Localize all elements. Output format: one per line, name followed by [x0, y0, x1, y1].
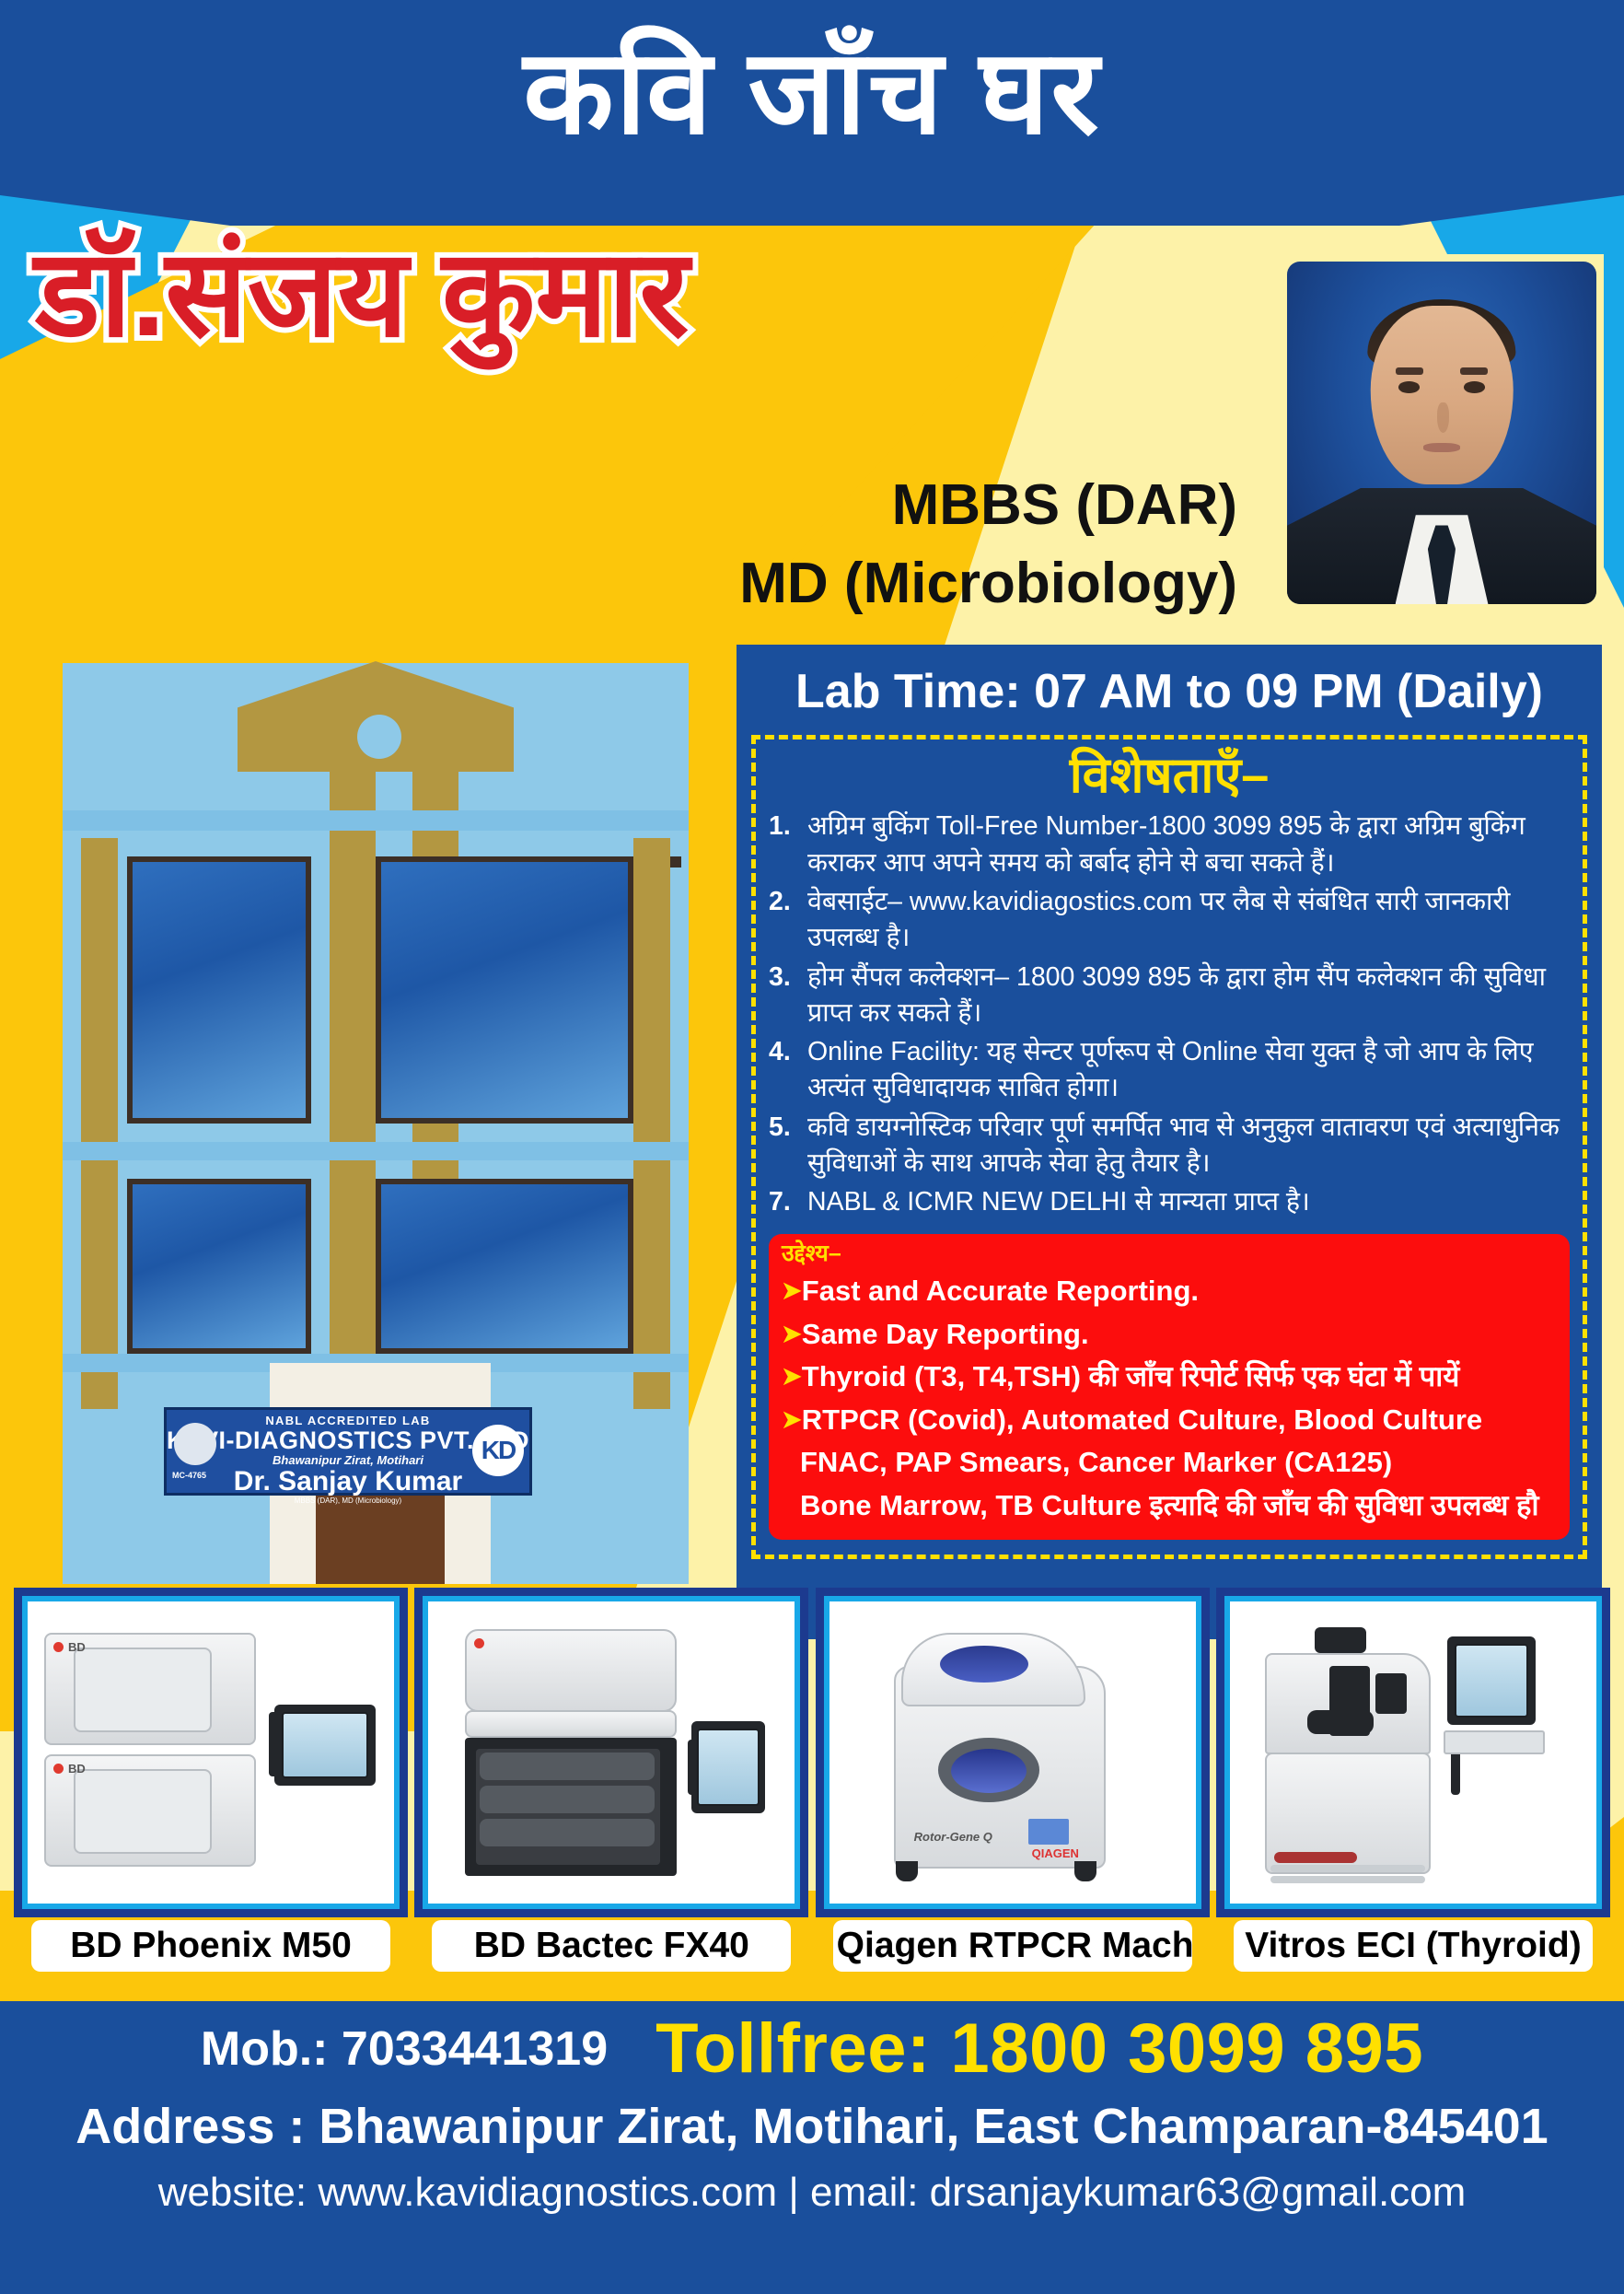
equipment-card: BD BD BD Phoenix M50 [22, 1596, 400, 2001]
feature-text: वेबसाईट– www.kavidiagostics.com पर लैब स… [807, 884, 1570, 957]
equipment-label: BD Bactec FX40 [432, 1920, 791, 1972]
building-window-3 [670, 856, 681, 868]
feature-number: 1. [769, 809, 807, 881]
feature-number: 4. [769, 1034, 807, 1107]
feature-item: 7. NABL & ICMR NEW DELHI से मान्यता प्रा… [769, 1184, 1570, 1220]
feature-item: 1. अग्रिम बुकिंग Toll-Free Number-1800 3… [769, 809, 1570, 881]
building-oculus-window [357, 715, 401, 759]
objective-continuation-line: FNAC, PAP Smears, Cancer Marker (CA125) [782, 1441, 1557, 1485]
objective-text: Same Day Reporting. [802, 1313, 1089, 1357]
qiagen-brand-text: Rotor-Gene Q [914, 1830, 992, 1844]
doctor-qualification-1: MBBS (DAR) [892, 474, 1237, 537]
signboard-accreditation: NABL ACCREDITED LAB [167, 1414, 529, 1427]
building-window-4 [127, 1179, 311, 1354]
lab-building-photo: MC-4765 NABL ACCREDITED LAB KAVI-DIAGNOS… [26, 626, 725, 1639]
equipment-label: Vitros ECI (Thyroid) [1234, 1920, 1593, 1972]
signboard-doctor-qual: MBBS (DAR), MD (Microbiology) [167, 1496, 529, 1505]
lab-signboard: MC-4765 NABL ACCREDITED LAB KAVI-DIAGNOS… [164, 1407, 532, 1496]
feature-item: 4. Online Facility: यह सेन्टर पूर्णरूप स… [769, 1034, 1570, 1107]
objective-text: Fast and Accurate Reporting. [802, 1270, 1199, 1313]
footer: Mob.: 7033441319 Tollfree: 1800 3099 895… [0, 2001, 1624, 2294]
feature-number: 3. [769, 960, 807, 1032]
feature-item: 3. होम सैंपल कलेक्शन– 1800 3099 895 के द… [769, 960, 1570, 1032]
equipment-image: BD BD [22, 1596, 400, 1909]
portrait-brow-right [1460, 367, 1488, 375]
footer-tollfree: Tollfree: 1800 3099 895 [655, 2009, 1423, 2089]
objective-item: ➤ Same Day Reporting. [782, 1313, 1557, 1357]
building-ledge-mid [63, 1142, 689, 1160]
building-pillar-far-right [633, 838, 670, 1409]
building-pillar-left [330, 764, 376, 1409]
feature-item: 5. कवि डायग्नोस्टिक परिवार पूर्ण समर्पित… [769, 1110, 1570, 1182]
equipment-card: Rotor-Gene Q QIAGEN Qiagen RTPCR Machine [824, 1596, 1201, 2001]
page-title: कवि जाँच घर [523, 34, 1100, 161]
nabl-seal-icon [174, 1423, 216, 1465]
feature-text: होम सैंपल कलेक्शन– 1800 3099 895 के द्वा… [807, 960, 1570, 1032]
objective-text: Thyroid (T3, T4,TSH) की जाँच रिपोर्ट सिर… [802, 1356, 1460, 1399]
doctor-qualification-2: MD (Microbiology) [739, 553, 1237, 615]
building-window-1 [127, 856, 311, 1124]
doctor-portrait [1287, 262, 1596, 604]
kd-logo-icon: KD [472, 1425, 524, 1476]
feature-text: कवि डायग्नोस्टिक परिवार पूर्ण समर्पित भा… [807, 1110, 1570, 1182]
arrow-bullet-icon: ➤ [782, 1399, 802, 1439]
feature-item: 2. वेबसाईट– www.kavidiagostics.com पर लै… [769, 884, 1570, 957]
features-list: 1. अग्रिम बुकिंग Toll-Free Number-1800 3… [769, 809, 1570, 1221]
feature-number: 5. [769, 1110, 807, 1182]
objectives-list: ➤ Fast and Accurate Reporting. ➤ Same Da… [782, 1270, 1557, 1441]
objectives-heading: उद्देश्य– [782, 1241, 1557, 1267]
features-box: विशेषताएँ– 1. अग्रिम बुकिंग Toll-Free Nu… [751, 735, 1587, 1560]
objective-text: RTPCR (Covid), Automated Culture, Blood … [802, 1399, 1482, 1442]
equipment-image [423, 1596, 800, 1909]
feature-text: Online Facility: यह सेन्टर पूर्णरूप से O… [807, 1034, 1570, 1107]
footer-contact-row: Mob.: 7033441319 Tollfree: 1800 3099 895 [0, 2009, 1624, 2089]
objective-item: ➤ Fast and Accurate Reporting. [782, 1270, 1557, 1313]
doctor-photo-frame [1280, 254, 1604, 611]
header-banner: कवि जाँच घर [0, 0, 1624, 226]
portrait-eye-right [1464, 381, 1486, 393]
features-heading: विशेषताएँ– [769, 749, 1570, 803]
building-pillar-far-left [81, 838, 118, 1409]
objective-continuation-line: Bone Marrow, TB Culture इत्यादि की जाँच … [782, 1485, 1557, 1528]
portrait-brow-left [1396, 367, 1423, 375]
info-panel: Lab Time: 07 AM to 09 PM (Daily) विशेषता… [737, 645, 1602, 1639]
building-ledge-top [63, 810, 689, 831]
feature-text: अग्रिम बुकिंग Toll-Free Number-1800 3099… [807, 809, 1570, 881]
objectives-box: उद्देश्य– ➤ Fast and Accurate Reporting.… [769, 1234, 1570, 1541]
equipment-card: Vitros ECI (Thyroid) [1224, 1596, 1602, 2001]
arrow-bullet-icon: ➤ [782, 1313, 802, 1354]
equipment-image [1224, 1596, 1602, 1909]
footer-mobile: Mob.: 7033441319 [201, 2021, 608, 2077]
doctor-name: डॉ.संजय कुमार [35, 230, 1259, 358]
lab-time-text: Lab Time: 07 AM to 09 PM (Daily) [751, 658, 1587, 735]
equipment-strip: BD BD BD Phoenix M50 [0, 1596, 1624, 2001]
arrow-bullet-icon: ➤ [782, 1270, 802, 1310]
portrait-mouth [1423, 443, 1460, 452]
poster-root: कवि जाँच घर डॉ.संजय कुमार MBBS (DAR) MD … [0, 0, 1624, 2294]
equipment-card: BD Bactec FX40 [423, 1596, 800, 2001]
equipment-image: Rotor-Gene Q QIAGEN [824, 1596, 1201, 1909]
equipment-label: BD Phoenix M50 [31, 1920, 390, 1972]
footer-website-email: website: www.kavidiagnostics.com | email… [0, 2170, 1624, 2216]
portrait-face [1371, 306, 1514, 483]
equipment-label: Qiagen RTPCR Machine [833, 1920, 1192, 1972]
signboard-seal-code: MC-4765 [172, 1471, 206, 1480]
building-window-2 [376, 856, 633, 1124]
portrait-eye-left [1398, 381, 1421, 393]
feature-text: NABL & ICMR NEW DELHI से मान्यता प्राप्त… [807, 1184, 1570, 1220]
footer-address: Address : Bhawanipur Zirat, Motihari, Ea… [0, 2098, 1624, 2155]
objective-item: ➤ RTPCR (Covid), Automated Culture, Bloo… [782, 1399, 1557, 1442]
arrow-bullet-icon: ➤ [782, 1356, 802, 1396]
objective-item: ➤ Thyroid (T3, T4,TSH) की जाँच रिपोर्ट स… [782, 1356, 1557, 1399]
signboard-doctor-name: Dr. Sanjay Kumar [167, 1467, 529, 1496]
feature-number: 2. [769, 884, 807, 957]
feature-number: 7. [769, 1184, 807, 1220]
building-window-5 [376, 1179, 633, 1354]
